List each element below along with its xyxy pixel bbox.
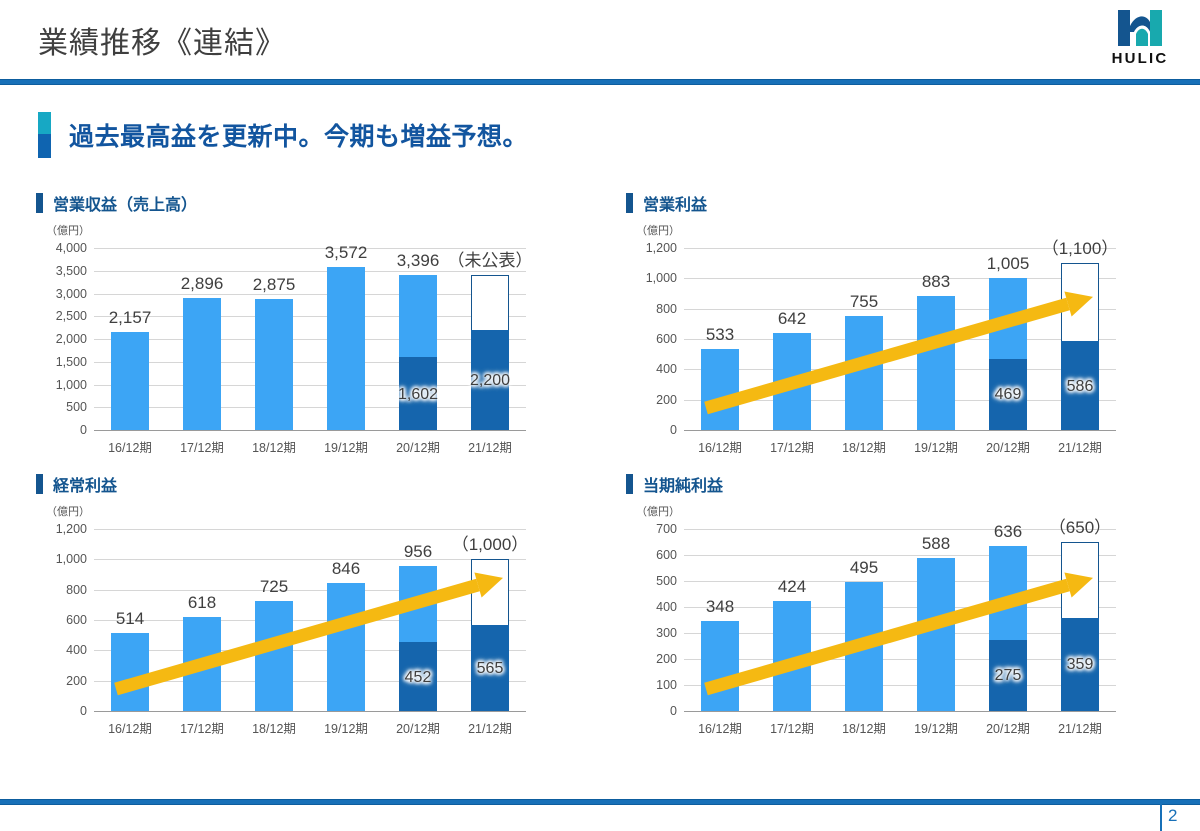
- bar-segment-second-half: [989, 546, 1027, 640]
- x-axis-tick: 21/12期: [1058, 718, 1102, 737]
- bar: [1061, 263, 1099, 430]
- x-axis-line: [94, 711, 526, 712]
- y-axis-tick: 400: [656, 362, 677, 376]
- y-axis-tick: 0: [80, 423, 87, 437]
- x-axis-tick: 17/12期: [770, 718, 814, 737]
- plot-area-operating-profit: 02004006008001,0001,20053316/12期64217/12…: [684, 248, 1116, 430]
- y-axis-tick: 700: [656, 522, 677, 536]
- bar-segment-actual: [255, 601, 293, 711]
- bar: [701, 349, 739, 430]
- bar-value-label: 2,875: [253, 275, 296, 295]
- y-axis-tick: 0: [670, 704, 677, 718]
- y-axis-tick: 400: [66, 643, 87, 657]
- chart-panel-ordinary-profit: 経常利益（億円）02004006008001,0001,20051416/12期…: [32, 473, 592, 751]
- y-axis-tick: 200: [66, 674, 87, 688]
- bar: [111, 332, 149, 430]
- bar-column: （1,100）58621/12期: [1044, 248, 1116, 430]
- x-axis-tick: 17/12期: [180, 437, 224, 456]
- bar-value-label: 883: [922, 272, 950, 292]
- bar-column: 63627520/12期: [972, 529, 1044, 711]
- bar-column: 64217/12期: [756, 248, 828, 430]
- bar-inner-value-label: 2,200: [470, 372, 510, 390]
- chart-title-accent-bar: [626, 193, 633, 213]
- y-axis-tick: 0: [670, 423, 677, 437]
- x-axis-tick: 16/12期: [698, 437, 742, 456]
- y-axis-tick: 2,500: [56, 309, 87, 323]
- bar-value-label: 636: [994, 522, 1022, 542]
- bar: [1061, 542, 1099, 711]
- x-axis-tick: 20/12期: [986, 437, 1030, 456]
- y-axis-tick: 200: [656, 393, 677, 407]
- bar: [111, 633, 149, 711]
- chart-unit-label: （億円）: [46, 222, 90, 238]
- plot-area-ordinary-profit: 02004006008001,0001,20051416/12期61817/12…: [94, 529, 526, 711]
- bar-segment-second-half: [399, 566, 437, 642]
- hulic-logo-text: HULIC: [1094, 50, 1186, 67]
- chart-unit-label: （億円）: [636, 222, 680, 238]
- bar-segment-actual: [773, 333, 811, 430]
- y-axis-tick: 300: [656, 626, 677, 640]
- x-axis-tick: 18/12期: [842, 718, 886, 737]
- bar-value-label: 533: [706, 325, 734, 345]
- x-axis-tick: 17/12期: [770, 437, 814, 456]
- bar-value-label: （1,100）: [1042, 234, 1119, 259]
- bar-value-label: 642: [778, 309, 806, 329]
- bar-value-label: （650）: [1049, 513, 1111, 538]
- bar: [773, 601, 811, 711]
- bar-column: 58819/12期: [900, 529, 972, 711]
- bar-segment-actual: [701, 621, 739, 711]
- bar-column: 88319/12期: [900, 248, 972, 430]
- bar-column: （650）35921/12期: [1044, 529, 1116, 711]
- bar-segment-actual: [917, 558, 955, 711]
- bar: [255, 601, 293, 711]
- bar-segment-second-half: [399, 275, 437, 357]
- bar-value-label: 956: [404, 542, 432, 562]
- y-axis-tick: 1,000: [56, 378, 87, 392]
- bar-segment-actual: [845, 582, 883, 711]
- bar-column: 2,15716/12期: [94, 248, 166, 430]
- x-axis-tick: 21/12期: [1058, 437, 1102, 456]
- bar-value-label: 846: [332, 559, 360, 579]
- bar: [773, 333, 811, 430]
- y-axis-tick: 2,000: [56, 332, 87, 346]
- page-number-divider: [1160, 803, 1162, 831]
- bar-inner-value-label: 586: [1067, 378, 1094, 396]
- bar-column: （1,000）56521/12期: [454, 529, 526, 711]
- bar: [255, 299, 293, 430]
- bar-value-label: 3,396: [397, 251, 440, 271]
- bar-value-label: 514: [116, 609, 144, 629]
- y-axis-tick: 3,500: [56, 264, 87, 278]
- chart-title-ordinary-profit: 経常利益: [36, 473, 117, 495]
- y-axis-tick: 200: [656, 652, 677, 666]
- x-axis-tick: 19/12期: [324, 718, 368, 737]
- chart-panel-net-profit: 当期純利益（億円）010020030040050060070034816/12期…: [622, 473, 1182, 751]
- footer-divider: [0, 799, 1200, 805]
- bar-value-label: 618: [188, 593, 216, 613]
- bar: [917, 296, 955, 430]
- bar: [183, 617, 221, 711]
- bar-value-label: 588: [922, 534, 950, 554]
- y-axis-tick: 600: [656, 332, 677, 346]
- bar: [471, 559, 509, 711]
- bar-inner-value-label: 469: [995, 386, 1022, 404]
- bar-value-label: 755: [850, 292, 878, 312]
- bar-column: 1,00546920/12期: [972, 248, 1044, 430]
- bar-column: 34816/12期: [684, 529, 756, 711]
- bar: [845, 582, 883, 711]
- x-axis-tick: 20/12期: [986, 718, 1030, 737]
- page-number: 2: [1168, 806, 1192, 826]
- x-axis-tick: 18/12期: [252, 437, 296, 456]
- plot-area-net-profit: 010020030040050060070034816/12期42417/12期…: [684, 529, 1116, 711]
- slide-header: 業績推移《連結》 HULIC: [0, 0, 1200, 82]
- chart-panel-operating-profit: 営業利益（億円）02004006008001,0001,20053316/12期…: [622, 192, 1182, 470]
- y-axis-tick: 400: [656, 600, 677, 614]
- bar-column: 61817/12期: [166, 529, 238, 711]
- x-axis-line: [684, 430, 1116, 431]
- headline-text: 過去最高益を更新中。今期も増益予想。: [69, 117, 528, 153]
- y-axis-tick: 600: [66, 613, 87, 627]
- bar: [327, 267, 365, 430]
- y-axis-tick: 1,200: [646, 241, 677, 255]
- bar-segment-actual: [701, 349, 739, 430]
- bar-value-label: 2,157: [109, 308, 152, 328]
- bar-segment-actual: [845, 316, 883, 431]
- bar-segment-second-half: [989, 278, 1027, 359]
- bar: [917, 558, 955, 711]
- y-axis-tick: 800: [656, 302, 677, 316]
- bar-segment-actual: [773, 601, 811, 711]
- bar-segment-actual: [327, 267, 365, 430]
- x-axis-tick: 19/12期: [914, 718, 958, 737]
- x-axis-line: [94, 430, 526, 431]
- x-axis-line: [684, 711, 1116, 712]
- chart-title-operating-revenue: 営業収益（売上高）: [36, 192, 197, 214]
- y-axis-tick: 500: [66, 400, 87, 414]
- x-axis-tick: 19/12期: [324, 437, 368, 456]
- bar-column: 49518/12期: [828, 529, 900, 711]
- bar-column: 84619/12期: [310, 529, 382, 711]
- bar-column: 3,3961,60220/12期: [382, 248, 454, 430]
- bar-value-label: 725: [260, 577, 288, 597]
- page-title: 業績推移《連結》: [38, 18, 286, 62]
- chart-title-text: 経常利益: [53, 472, 117, 496]
- bar-column: 51416/12期: [94, 529, 166, 711]
- header-divider: [0, 79, 1200, 85]
- bar-segment-actual: [111, 332, 149, 430]
- chart-title-accent-bar: [36, 474, 43, 494]
- chart-title-operating-profit: 営業利益: [626, 192, 707, 214]
- bar-inner-value-label: 565: [477, 660, 504, 678]
- x-axis-tick: 17/12期: [180, 718, 224, 737]
- y-axis-tick: 500: [656, 574, 677, 588]
- bar-value-label: 2,896: [181, 274, 224, 294]
- bar: [399, 566, 437, 711]
- bar-value-label: 424: [778, 577, 806, 597]
- y-axis-tick: 4,000: [56, 241, 87, 255]
- bar-column: 2,87518/12期: [238, 248, 310, 430]
- hulic-logo-icon: [1116, 8, 1164, 48]
- bar-column: （未公表）2,20021/12期: [454, 248, 526, 430]
- bar-segment-actual: [183, 617, 221, 711]
- bar-segment-actual: [917, 296, 955, 430]
- chart-title-text: 営業利益: [643, 191, 707, 215]
- bar-inner-value-label: 359: [1067, 656, 1094, 674]
- y-axis-tick: 100: [656, 678, 677, 692]
- y-axis-tick: 600: [656, 548, 677, 562]
- bar-value-label: 348: [706, 597, 734, 617]
- bar-segment-actual: [327, 583, 365, 711]
- y-axis-tick: 1,000: [646, 271, 677, 285]
- chart-panel-operating-revenue: 営業収益（売上高）（億円）05001,0001,5002,0002,5003,0…: [32, 192, 592, 470]
- y-axis-tick: 800: [66, 583, 87, 597]
- chart-title-text: 営業収益（売上高）: [53, 191, 197, 215]
- bar: [471, 275, 509, 430]
- bar: [989, 278, 1027, 430]
- bar-column: 75518/12期: [828, 248, 900, 430]
- x-axis-tick: 18/12期: [252, 718, 296, 737]
- bar-value-label: 3,572: [325, 243, 368, 263]
- chart-unit-label: （億円）: [46, 503, 90, 519]
- bar-column: 42417/12期: [756, 529, 828, 711]
- bar: [701, 621, 739, 711]
- x-axis-tick: 20/12期: [396, 437, 440, 456]
- x-axis-tick: 16/12期: [108, 437, 152, 456]
- plot-area-operating-revenue: 05001,0001,5002,0002,5003,0003,5004,0002…: [94, 248, 526, 430]
- bar-inner-value-label: 275: [995, 667, 1022, 685]
- bar: [327, 583, 365, 711]
- headline-accent-bar: [38, 112, 51, 158]
- bar: [399, 275, 437, 430]
- y-axis-tick: 1,000: [56, 552, 87, 566]
- chart-title-text: 当期純利益: [643, 472, 723, 496]
- chart-unit-label: （億円）: [636, 503, 680, 519]
- bar-value-label: 1,005: [987, 254, 1030, 274]
- chart-title-accent-bar: [626, 474, 633, 494]
- bar: [845, 316, 883, 431]
- bar: [183, 298, 221, 430]
- bar-inner-value-label: 1,602: [398, 386, 438, 404]
- y-axis-tick: 3,000: [56, 287, 87, 301]
- bar-column: 53316/12期: [684, 248, 756, 430]
- chart-title-net-profit: 当期純利益: [626, 473, 723, 495]
- hulic-logo: HULIC: [1094, 8, 1186, 72]
- bar-segment-actual: [111, 633, 149, 711]
- bar-column: 2,89617/12期: [166, 248, 238, 430]
- bar-value-label: 495: [850, 558, 878, 578]
- x-axis-tick: 18/12期: [842, 437, 886, 456]
- x-axis-tick: 21/12期: [468, 718, 512, 737]
- headline-banner: 過去最高益を更新中。今期も増益予想。: [38, 112, 528, 158]
- bar-segment-actual: [183, 298, 221, 430]
- bar-value-label: （未公表）: [448, 246, 533, 271]
- x-axis-tick: 20/12期: [396, 718, 440, 737]
- bar-value-label: （1,000）: [452, 530, 529, 555]
- y-axis-tick: 1,500: [56, 355, 87, 369]
- x-axis-tick: 21/12期: [468, 437, 512, 456]
- bar-segment-actual: [255, 299, 293, 430]
- bar-column: 95645220/12期: [382, 529, 454, 711]
- x-axis-tick: 19/12期: [914, 437, 958, 456]
- y-axis-tick: 1,200: [56, 522, 87, 536]
- bar: [989, 546, 1027, 711]
- bar-column: 3,57219/12期: [310, 248, 382, 430]
- bar-inner-value-label: 452: [405, 669, 432, 687]
- chart-title-accent-bar: [36, 193, 43, 213]
- bar-column: 72518/12期: [238, 529, 310, 711]
- x-axis-tick: 16/12期: [108, 718, 152, 737]
- x-axis-tick: 16/12期: [698, 718, 742, 737]
- y-axis-tick: 0: [80, 704, 87, 718]
